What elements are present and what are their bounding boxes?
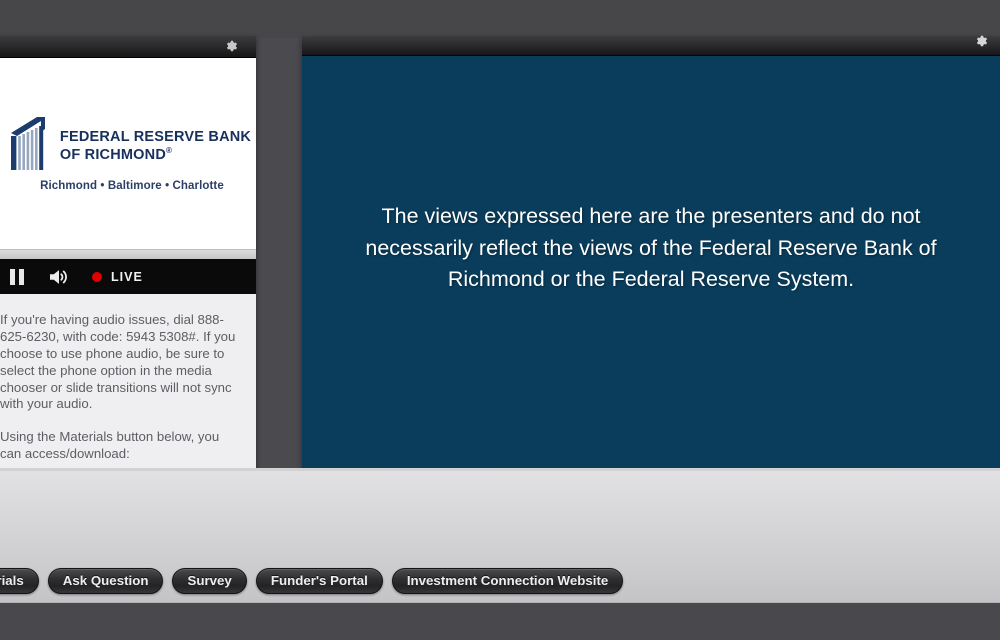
action-button-strip: erials Ask Question Survey Funder's Port… bbox=[0, 568, 623, 594]
volume-icon[interactable] bbox=[48, 268, 70, 286]
video-stage[interactable]: FEDERAL RESERVE BANK OF RICHMOND® Richmo… bbox=[0, 58, 256, 249]
frb-logo-cities: Richmond • Baltimore • Charlotte bbox=[40, 180, 224, 192]
gear-icon[interactable] bbox=[974, 34, 988, 48]
funders-portal-button[interactable]: Funder's Portal bbox=[256, 568, 383, 594]
window-footer-bar bbox=[0, 602, 1000, 640]
slide-canvas[interactable]: The views expressed here are the present… bbox=[302, 56, 1000, 468]
materials-button[interactable]: erials bbox=[0, 568, 39, 594]
webcast-window: FEDERAL RESERVE BANK OF RICHMOND® Richmo… bbox=[0, 0, 1000, 640]
live-record-dot-icon bbox=[92, 272, 102, 282]
pause-icon[interactable] bbox=[10, 269, 24, 285]
slide-viewer-panel: The views expressed here are the present… bbox=[302, 36, 1000, 468]
left-panel-titlebar bbox=[0, 36, 256, 58]
window-chrome-top bbox=[0, 0, 1000, 38]
live-label: LIVE bbox=[111, 270, 143, 284]
video-seek-bar[interactable] bbox=[0, 249, 256, 259]
frb-logo-wordmark: FEDERAL RESERVE BANK OF RICHMOND® bbox=[60, 115, 251, 163]
survey-button[interactable]: Survey bbox=[172, 568, 246, 594]
materials-intro-paragraph: Using the Materials button below, you ca… bbox=[0, 429, 242, 463]
frb-logo-line1: FEDERAL RESERVE BANK bbox=[60, 129, 251, 145]
audio-issues-paragraph: If you're having audio issues, dial 888-… bbox=[0, 312, 242, 413]
investment-connection-website-button[interactable]: Investment Connection Website bbox=[392, 568, 623, 594]
frb-logo-line2: OF RICHMOND bbox=[60, 146, 166, 162]
slide-disclaimer-text: The views expressed here are the present… bbox=[364, 201, 939, 296]
ask-question-button[interactable]: Ask Question bbox=[48, 568, 164, 594]
federal-reserve-logo: FEDERAL RESERVE BANK OF RICHMOND® Richmo… bbox=[7, 115, 251, 192]
frb-building-mark-icon bbox=[7, 115, 51, 173]
frb-logo-registered-mark: ® bbox=[166, 146, 172, 155]
gear-icon[interactable] bbox=[224, 39, 238, 53]
video-controls-bar: LIVE bbox=[0, 259, 256, 294]
slide-panel-titlebar bbox=[302, 36, 1000, 56]
live-status-indicator: LIVE bbox=[92, 270, 143, 284]
tray-top-shadow bbox=[0, 468, 1000, 471]
